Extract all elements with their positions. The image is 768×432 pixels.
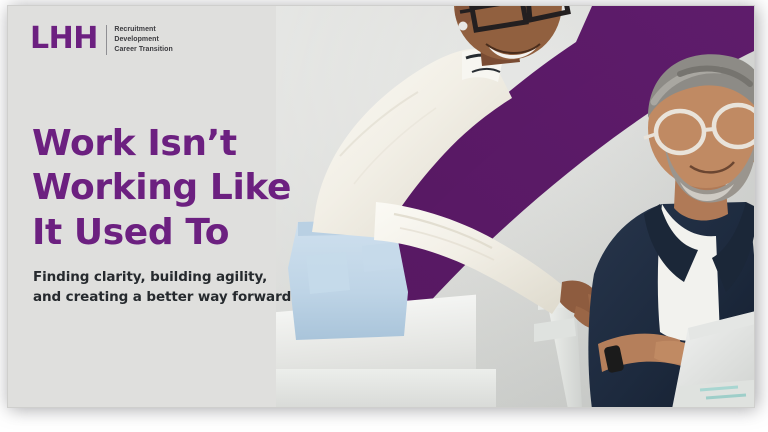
subheadline-line-1: Finding clarity, building agility, [33, 267, 333, 287]
lhh-logo-wordmark: LHH [30, 24, 106, 54]
logo-tagline-line-1: Recruitment [114, 25, 172, 35]
headline-line-1: Work Isn’t [32, 122, 322, 166]
presentation-slide: LHH Recruitment Development Career Trans… [7, 5, 755, 408]
seated-man-figure [588, 54, 755, 408]
hero-photo [276, 6, 755, 408]
headline-line-2: Working Like [32, 166, 322, 210]
lhh-logo[interactable]: LHH Recruitment Development Career Trans… [30, 24, 173, 55]
people-photo-subjects [276, 6, 755, 408]
logo-tagline-line-2: Development [114, 35, 172, 45]
text-panel: LHH Recruitment Development Career Trans… [8, 6, 308, 408]
logo-tagline: Recruitment Development Career Transitio… [114, 24, 172, 55]
slide-headline: Work Isn’t Working Like It Used To [32, 122, 322, 255]
slide-subheadline: Finding clarity, building agility, and c… [33, 267, 333, 308]
subheadline-line-2: and creating a better way forward [33, 287, 333, 307]
slide-canvas: LHH Recruitment Development Career Trans… [0, 0, 768, 432]
headline-line-3: It Used To [32, 211, 322, 255]
logo-tagline-line-3: Career Transition [114, 45, 172, 55]
logo-divider-rule [106, 25, 108, 55]
standing-woman-figure [288, 6, 620, 340]
